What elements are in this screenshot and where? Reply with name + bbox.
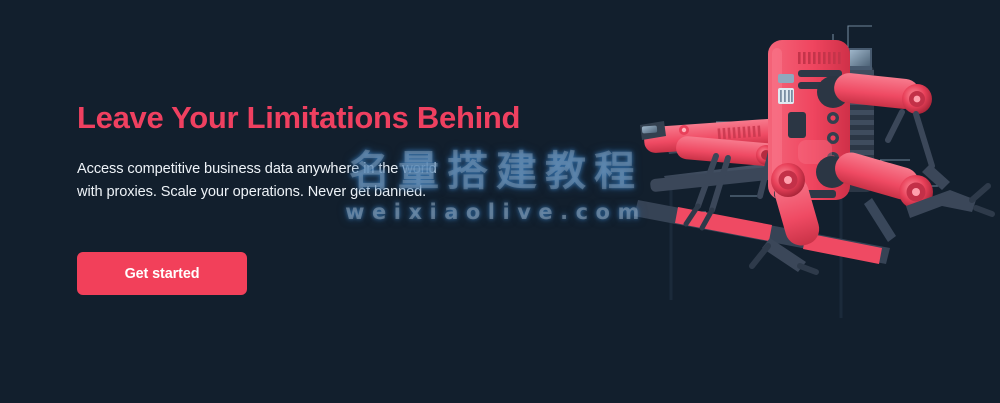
hero-content: Leave Your Limitations Behind Access com… (77, 100, 597, 205)
robot-illustration (620, 0, 1000, 403)
get-started-button[interactable]: Get started (77, 252, 247, 295)
hero-subtitle: Access competitive business data anywher… (77, 136, 597, 205)
hero-subtitle-line-2: with proxies. Scale your operations. Nev… (77, 181, 597, 205)
hero-subtitle-line-1: Access competitive business data anywher… (77, 158, 597, 182)
page-title: Leave Your Limitations Behind (77, 100, 597, 136)
hero-banner: Leave Your Limitations Behind Access com… (0, 0, 1000, 403)
